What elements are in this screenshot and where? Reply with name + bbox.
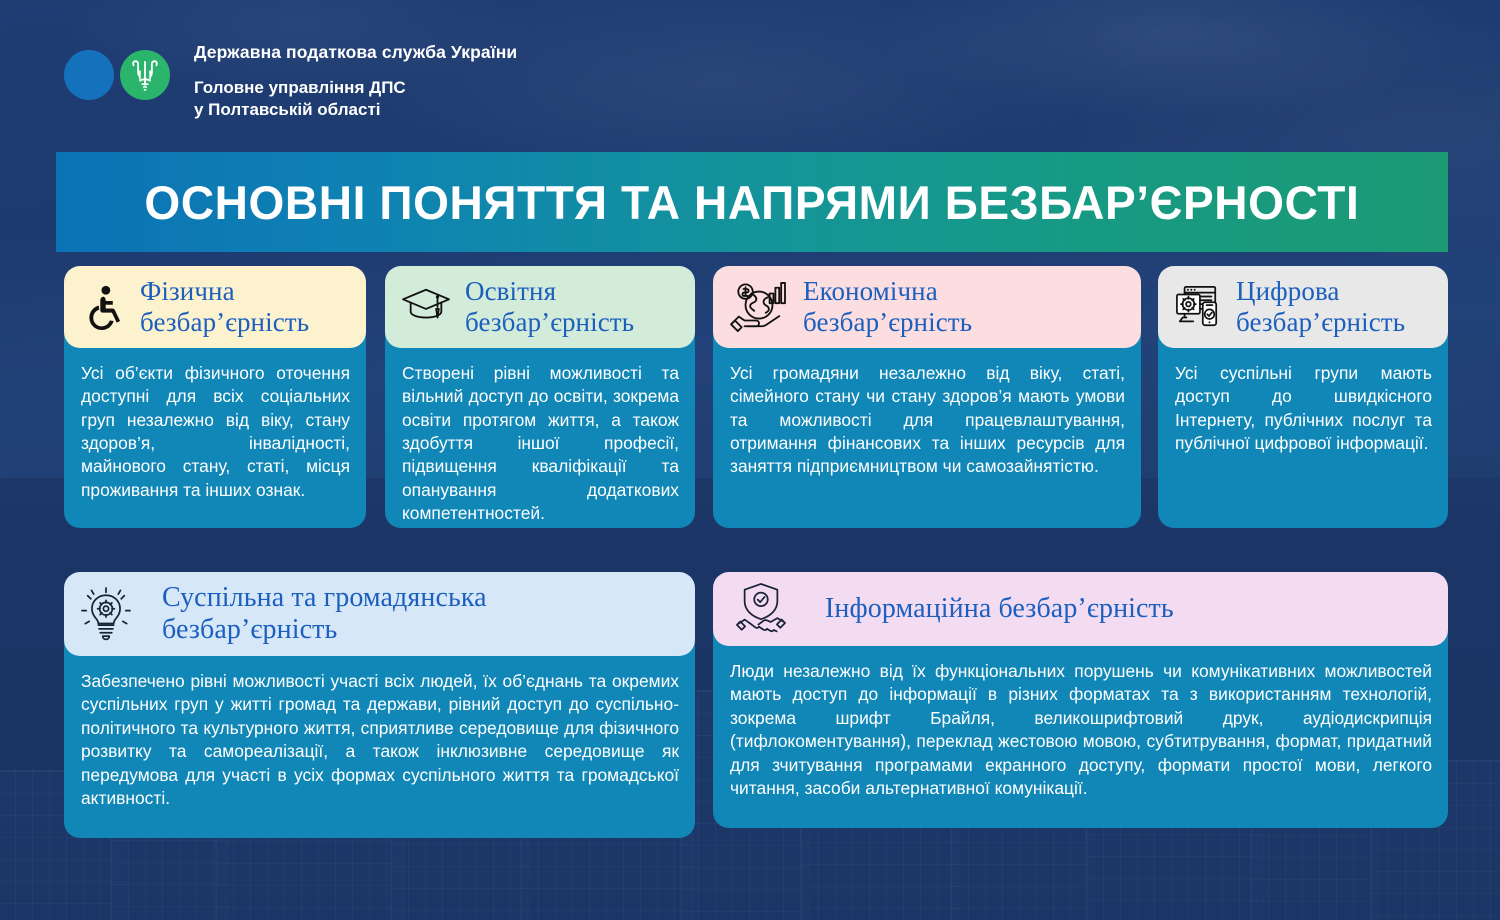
card-title-line1: Суспільна та громадянська xyxy=(162,582,487,614)
card-title-line2: безбар’єрність xyxy=(162,614,487,646)
logo-green-circle-icon xyxy=(120,50,170,100)
card-physical-accessibility: Фізична безбар’єрність Усі об’єкти фізич… xyxy=(64,266,366,528)
card-header: Фізична безбар’єрність xyxy=(64,266,366,348)
wheelchair-icon xyxy=(80,284,126,330)
card-title-line2: безбар’єрність xyxy=(803,307,972,338)
graduation-cap-icon xyxy=(401,284,451,330)
card-digital-accessibility: Цифрова безбар’єрність Усі суспільні гру… xyxy=(1158,266,1448,528)
card-description: Забезпечено рівні можливості участі всіх… xyxy=(64,642,695,838)
org-title-main: Державна податкова служба України xyxy=(194,42,517,63)
card-header: Інформаційна безбар’єрність xyxy=(713,572,1448,646)
card-social-civic-accessibility: Суспільна та громадянська безбар’єрність… xyxy=(64,572,695,838)
card-description: Усі громадяни незалежно від віку, статі,… xyxy=(713,334,1141,528)
main-title-banner: ОСНОВНІ ПОНЯТТЯ ТА НАПРЯМИ БЕЗБАР’ЄРНОСТ… xyxy=(56,152,1448,252)
lightbulb-gear-icon xyxy=(80,587,132,641)
card-title-line2: безбар’єрність xyxy=(465,307,634,338)
card-economic-accessibility: Економічна безбар’єрність Усі громадяни … xyxy=(713,266,1141,528)
card-title-line1: Фізична xyxy=(140,276,309,307)
dps-logo xyxy=(64,42,186,100)
card-title-line1: Економічна xyxy=(803,276,972,307)
card-title-line2: безбар’єрність xyxy=(1236,307,1405,338)
card-header: Цифрова безбар’єрність xyxy=(1158,266,1448,348)
card-title-line1: Інформаційна безбар’єрність xyxy=(825,593,1174,625)
card-title: Економічна безбар’єрність xyxy=(803,276,972,338)
card-description: Люди незалежно від їх функціональних пор… xyxy=(713,632,1448,828)
page-title: ОСНОВНІ ПОНЯТТЯ ТА НАПРЯМИ БЕЗБАР’ЄРНОСТ… xyxy=(144,175,1359,230)
card-header: Освітня безбар’єрність xyxy=(385,266,695,348)
ukraine-trident-icon xyxy=(132,59,158,91)
card-header: Суспільна та громадянська безбар’єрність xyxy=(64,572,695,656)
organization-header: Державна податкова служба України Головн… xyxy=(64,42,517,122)
org-title-dept: Головне управління ДПС xyxy=(194,77,517,99)
card-title-line1: Цифрова xyxy=(1236,276,1405,307)
logo-blue-circle-icon xyxy=(64,50,114,100)
org-title-region: у Полтавській області xyxy=(194,99,517,121)
card-title: Цифрова безбар’єрність xyxy=(1236,276,1405,338)
card-title-line2: безбар’єрність xyxy=(140,307,309,338)
card-title: Інформаційна безбар’єрність xyxy=(811,593,1174,625)
card-education-accessibility: Освітня безбар’єрність Створені рівні мо… xyxy=(385,266,695,528)
card-title: Фізична безбар’єрність xyxy=(140,276,309,338)
card-description: Усі суспільні групи мають доступ до швид… xyxy=(1158,334,1448,528)
card-header: Економічна безбар’єрність xyxy=(713,266,1141,348)
card-information-accessibility: Інформаційна безбар’єрність Люди незалеж… xyxy=(713,572,1448,828)
hand-globe-money-icon xyxy=(729,281,789,333)
card-description: Створені рівні можливості та вільний дос… xyxy=(385,334,695,528)
card-description: Усі об’єкти фізичного оточення доступні … xyxy=(64,334,366,528)
card-title: Суспільна та громадянська безбар’єрність xyxy=(162,582,487,646)
card-title-line1: Освітня xyxy=(465,276,634,307)
monitor-gear-phone-icon xyxy=(1174,284,1222,330)
card-title: Освітня безбар’єрність xyxy=(465,276,634,338)
shield-handshake-icon xyxy=(735,582,787,636)
